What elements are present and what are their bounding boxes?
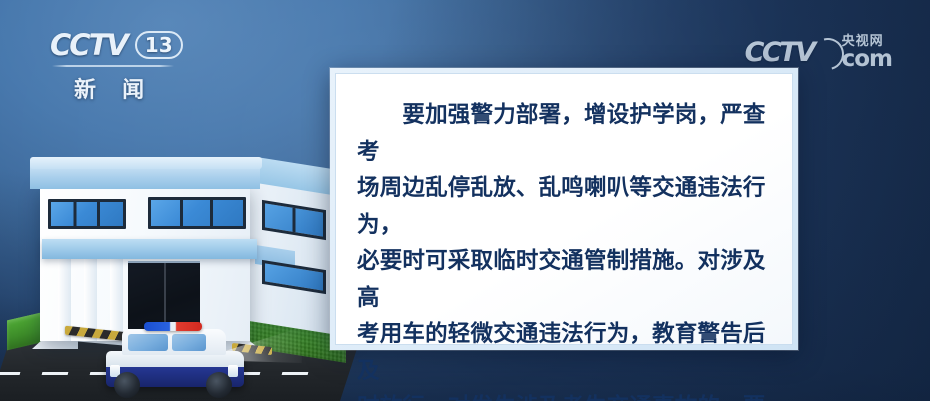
watermark-right-block: 央视网 com — [842, 34, 892, 71]
cctv-com-watermark: CCTV 央视网 com — [745, 34, 892, 71]
channel-name-label: 新 闻 — [74, 72, 200, 104]
channel-logo-underline — [52, 65, 174, 67]
police-car-window — [172, 334, 206, 351]
panel-paragraph: 要加强警力部署，增设护学岗，严查考 场周边乱停乱放、乱鸣喇叭等交通违法行为， 必… — [357, 97, 769, 401]
lower-third-text-panel: 要加强警力部署，增设护学岗，严查考 场周边乱停乱放、乱鸣喇叭等交通违法行为， 必… — [330, 68, 798, 350]
watermark-cctv-text: CCTV — [745, 37, 814, 68]
channel-logo: CCTV 13 新 闻 — [50, 28, 200, 96]
police-car — [100, 319, 250, 397]
police-station-illustration — [0, 111, 360, 401]
watermark-arc-icon — [810, 37, 844, 69]
channel-number-badge: 13 — [135, 31, 183, 59]
cctv-wordmark: CCTV — [50, 28, 127, 62]
channel-logo-row: CCTV 13 — [50, 28, 200, 62]
police-light-bar-icon — [144, 322, 202, 331]
police-car-wheel — [206, 372, 232, 398]
text-panel-inner: 要加强警力部署，增设护学岗，严查考 场周边乱停乱放、乱鸣喇叭等交通违法行为， 必… — [335, 73, 793, 345]
entrance-canopy — [42, 239, 257, 259]
building-window — [148, 197, 246, 229]
building-window — [48, 199, 126, 229]
police-car-headlight — [228, 365, 238, 377]
police-car-window — [128, 334, 168, 351]
police-car-wheel — [114, 372, 140, 398]
watermark-com-text: com — [842, 48, 892, 71]
screen-stage: CCTV 13 新 闻 CCTV 央视网 com — [0, 0, 930, 401]
roof-top — [30, 157, 262, 169]
